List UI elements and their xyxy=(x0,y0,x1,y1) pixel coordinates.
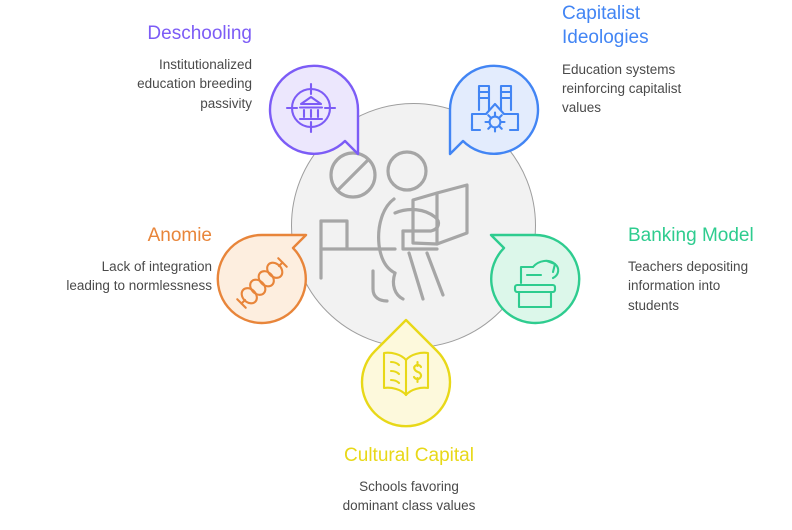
pin-deschooling[interactable] xyxy=(266,62,362,158)
label-title-capitalist-ideologies: Capitalist Ideologies xyxy=(562,2,762,51)
pin-capitalist-ideologies[interactable] xyxy=(446,62,542,158)
label-anomie: Anomie Lack of integration leading to no… xyxy=(16,224,212,296)
label-cultural-capital: Cultural Capital Schools favoring domina… xyxy=(294,444,524,516)
label-desc-cultural-capital: Schools favoring dominant class values xyxy=(294,477,524,515)
diagram-canvas: Deschooling Institutionalized education … xyxy=(0,0,792,530)
pin-banking-model[interactable] xyxy=(487,231,583,327)
label-desc-anomie: Lack of integration leading to normlessn… xyxy=(16,257,212,295)
label-desc-deschooling: Institutionalized education breeding pas… xyxy=(40,55,252,112)
label-capitalist-ideologies: Capitalist Ideologies Education systems … xyxy=(562,2,762,117)
label-title-banking-model: Banking Model xyxy=(628,224,788,248)
label-title-deschooling: Deschooling xyxy=(40,22,252,46)
label-title-cultural-capital: Cultural Capital xyxy=(294,444,524,468)
label-desc-banking-model: Teachers depositing information into stu… xyxy=(628,257,788,314)
label-title-anomie: Anomie xyxy=(16,224,212,248)
label-desc-capitalist-ideologies: Education systems reinforcing capitalist… xyxy=(562,60,762,117)
label-deschooling: Deschooling Institutionalized education … xyxy=(40,22,252,113)
label-banking-model: Banking Model Teachers depositing inform… xyxy=(628,224,788,315)
pin-anomie[interactable] xyxy=(214,231,310,327)
pin-cultural-capital[interactable] xyxy=(358,318,454,414)
